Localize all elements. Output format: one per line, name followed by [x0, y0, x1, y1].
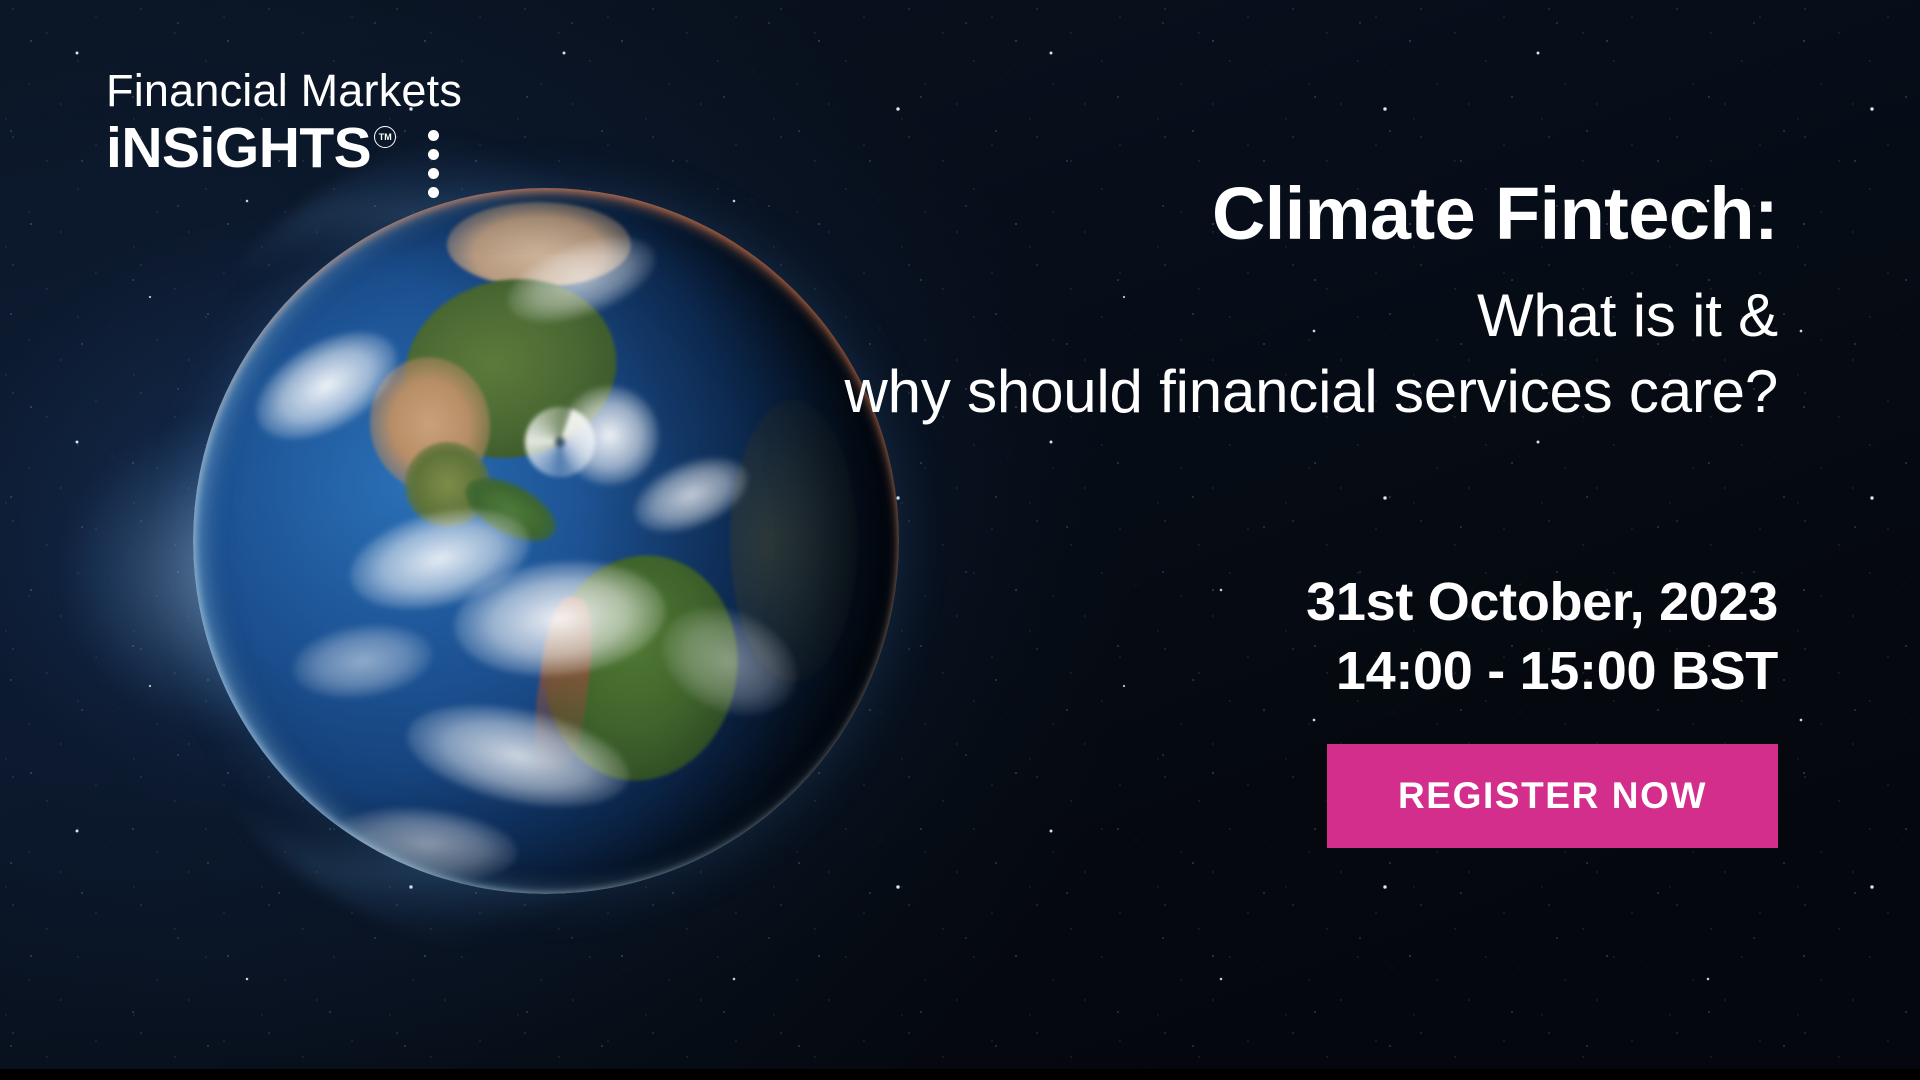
page-title: Climate Fintech: — [768, 176, 1778, 251]
subtitle-line-2: why should financial services care? — [768, 355, 1778, 428]
cta-row: REGISTER NOW — [768, 744, 1778, 848]
event-details: 31st October, 2023 14:00 - 15:00 BST — [768, 568, 1778, 706]
bottom-letterbox-bar — [0, 1069, 1920, 1080]
webinar-promo-banner: Financial Markets iNSiGHTS TM Climate Fi… — [0, 0, 1920, 1080]
brand-logo-line-1: Financial Markets — [106, 68, 462, 113]
register-now-button[interactable]: REGISTER NOW — [1327, 744, 1778, 848]
logo-dot — [428, 187, 439, 198]
event-time: 14:00 - 15:00 BST — [768, 637, 1778, 706]
brand-logo-line-2-row: iNSiGHTS TM — [106, 120, 462, 198]
subtitle-line-1: What is it & — [768, 279, 1778, 352]
brand-logo[interactable]: Financial Markets iNSiGHTS TM — [106, 68, 462, 198]
event-date: 31st October, 2023 — [768, 568, 1778, 637]
logo-dot — [428, 130, 439, 141]
brand-logo-line-2: iNSiGHTS — [106, 120, 371, 177]
logo-dot — [428, 168, 439, 179]
trademark-icon: TM — [374, 126, 396, 148]
logo-dots-decoration — [428, 130, 439, 198]
promo-copy-block: Climate Fintech: What is it & why should… — [768, 0, 1778, 848]
logo-dot — [428, 149, 439, 160]
